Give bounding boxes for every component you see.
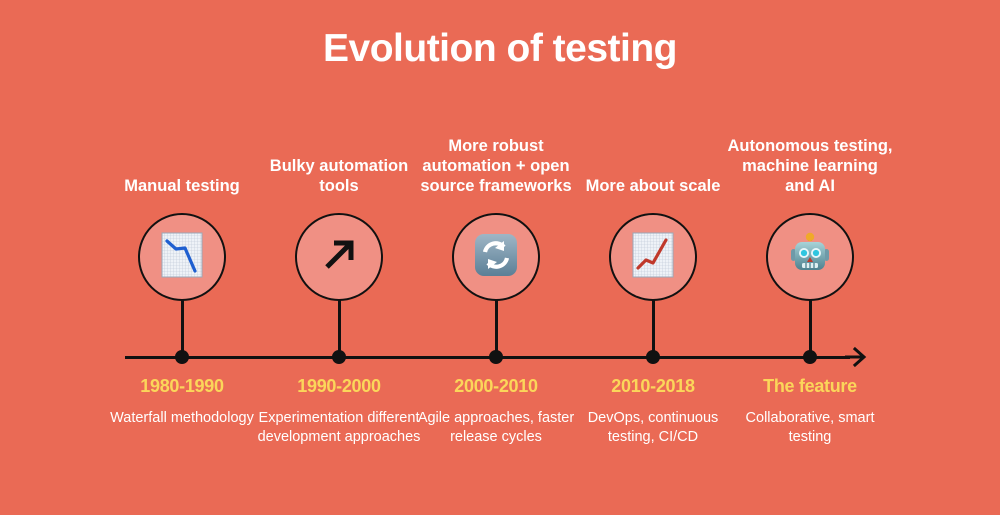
timeline-item-year: The feature (726, 376, 894, 397)
timeline-item-dot (646, 350, 660, 364)
timeline-item-dot (175, 350, 189, 364)
timeline-item-year: 2000-2010 (412, 376, 580, 397)
robot-icon (787, 232, 833, 283)
timeline-item-year: 2010-2018 (569, 376, 737, 397)
timeline-item-stem (652, 299, 655, 357)
timeline-item-stem (181, 299, 184, 357)
timeline-item-year: 1990-2000 (255, 376, 423, 397)
arrow-up-right-icon (318, 234, 360, 281)
timeline-item[interactable]: Autonomous testing, machine learning and… (732, 0, 888, 515)
chart-increasing-icon (632, 232, 674, 283)
timeline-item-description: Waterfall methodology (96, 409, 268, 428)
timeline-item[interactable]: More robust automation + open source fra… (418, 0, 574, 515)
timeline-item-stem (809, 299, 812, 357)
timeline-item-dot (803, 350, 817, 364)
timeline-item[interactable]: Manual testing (104, 0, 260, 515)
timeline-item-description: DevOps, continuous testing, CI/CD (567, 409, 739, 446)
timeline-item-description: Agile approaches, faster release cycles (410, 409, 582, 446)
timeline-item[interactable]: Bulky automation tools 1990-2000 Experim… (261, 0, 417, 515)
timeline-item-stem (495, 299, 498, 357)
timeline-columns: Manual testing (104, 0, 886, 515)
timeline-item-marker[interactable] (138, 213, 226, 301)
timeline-item-stem (338, 299, 341, 357)
refresh-sync-icon (473, 232, 519, 283)
timeline-infographic: Evolution of testing Manual testing (0, 0, 1000, 515)
timeline-item-marker[interactable] (295, 213, 383, 301)
chart-decreasing-icon (161, 232, 203, 283)
timeline-item-heading: More robust automation + open source fra… (412, 136, 580, 196)
timeline-item-marker[interactable] (766, 213, 854, 301)
timeline-item-heading: More about scale (569, 176, 737, 196)
timeline-item-description: Collaborative, smart testing (724, 409, 896, 446)
timeline-item-dot (489, 350, 503, 364)
timeline-item-heading: Bulky automation tools (255, 156, 423, 196)
timeline-item[interactable]: More about scale (575, 0, 731, 515)
timeline-item-dot (332, 350, 346, 364)
timeline-item-description: Experimentation different development ap… (253, 409, 425, 446)
timeline-item-heading: Manual testing (98, 176, 266, 196)
timeline-item-marker[interactable] (609, 213, 697, 301)
timeline-item-heading: Autonomous testing, machine learning and… (726, 136, 894, 196)
timeline-item-year: 1980-1990 (98, 376, 266, 397)
timeline-item-marker[interactable] (452, 213, 540, 301)
